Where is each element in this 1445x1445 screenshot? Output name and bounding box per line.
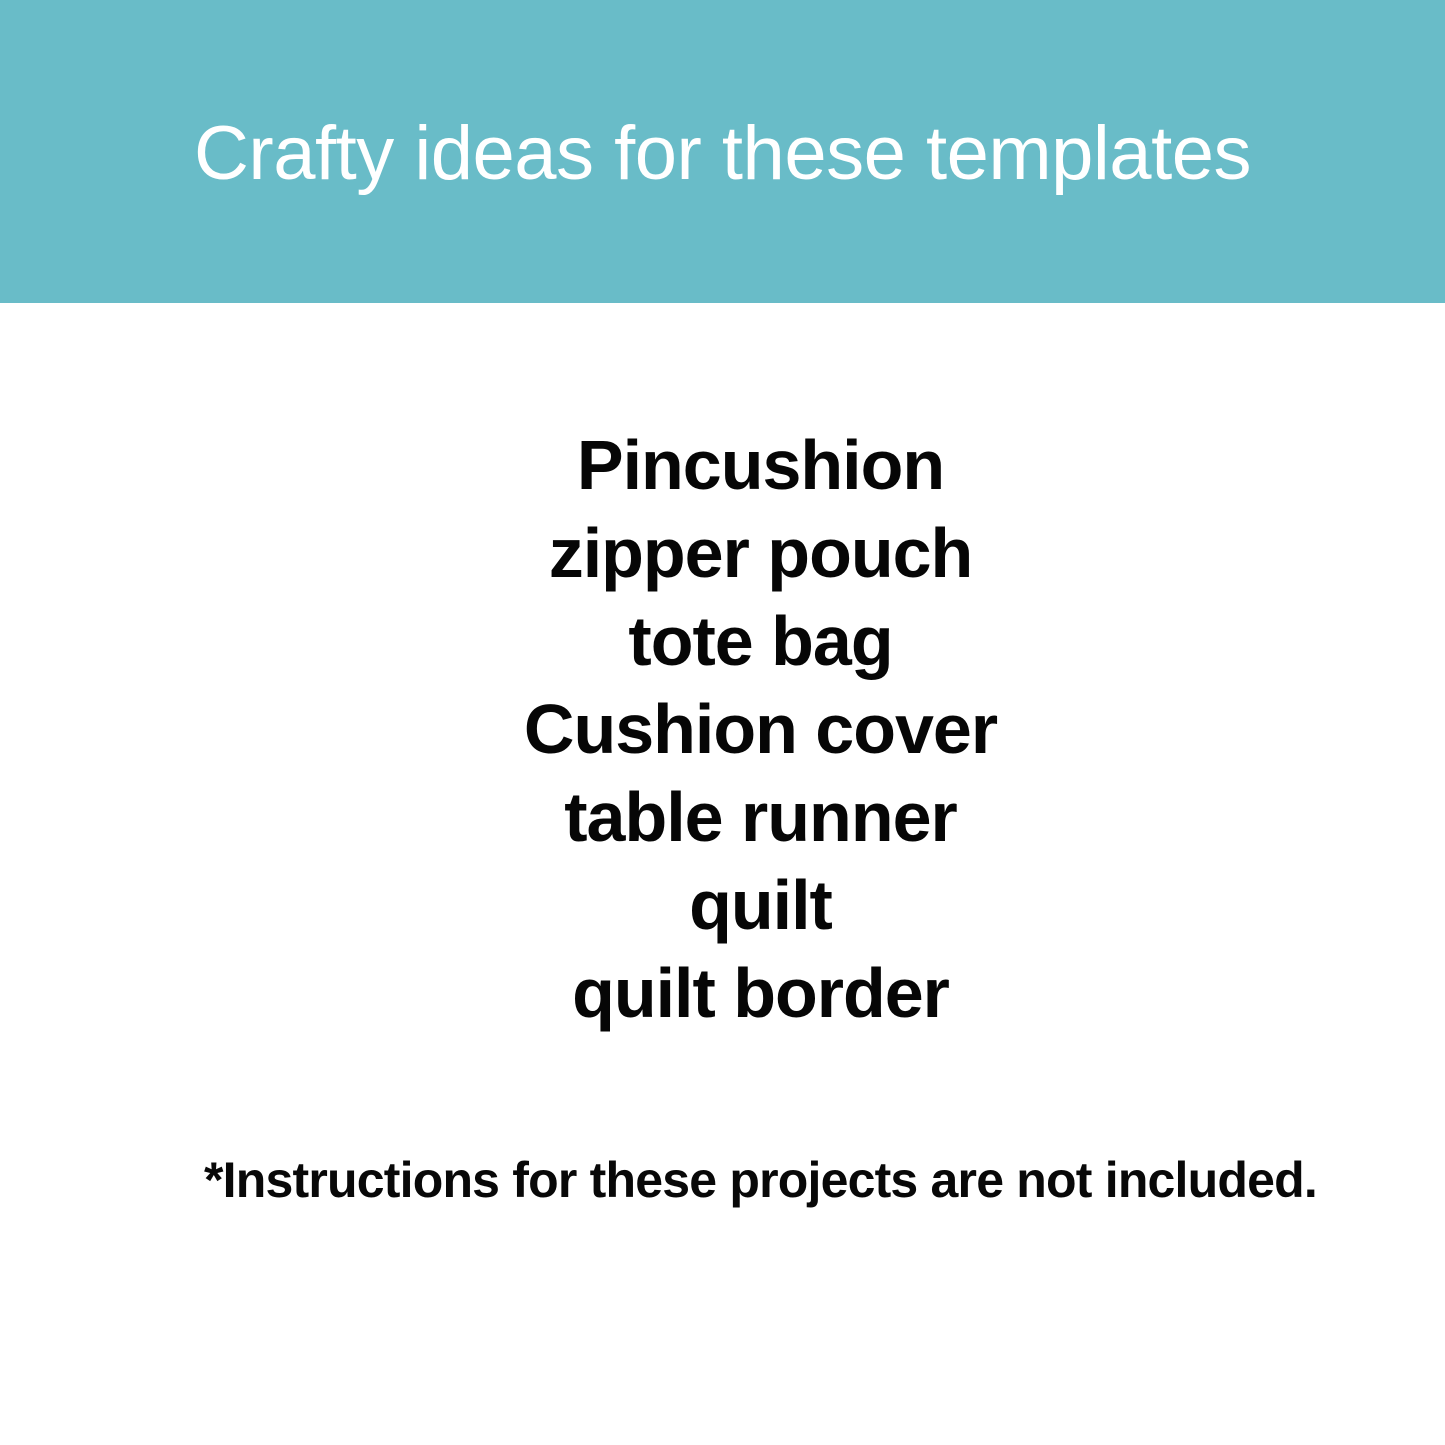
list-item: zipper pouch: [38, 509, 1445, 597]
list-item: Pincushion: [38, 421, 1445, 509]
list-item: Cushion cover: [38, 685, 1445, 773]
list-item: quilt: [38, 861, 1445, 949]
list-item: quilt border: [38, 949, 1445, 1037]
idea-list: Pincushion zipper pouch tote bag Cushion…: [0, 421, 1445, 1037]
footnote-disclaimer: *Instructions for these projects are not…: [38, 1148, 1445, 1212]
page-title: Crafty ideas for these templates: [154, 116, 1291, 192]
list-item: tote bag: [38, 597, 1445, 685]
body-area: Pincushion zipper pouch tote bag Cushion…: [0, 303, 1445, 1445]
poster-canvas: Crafty ideas for these templates Pincush…: [0, 0, 1445, 1445]
list-item: table runner: [38, 773, 1445, 861]
header-band: Crafty ideas for these templates: [0, 0, 1445, 303]
